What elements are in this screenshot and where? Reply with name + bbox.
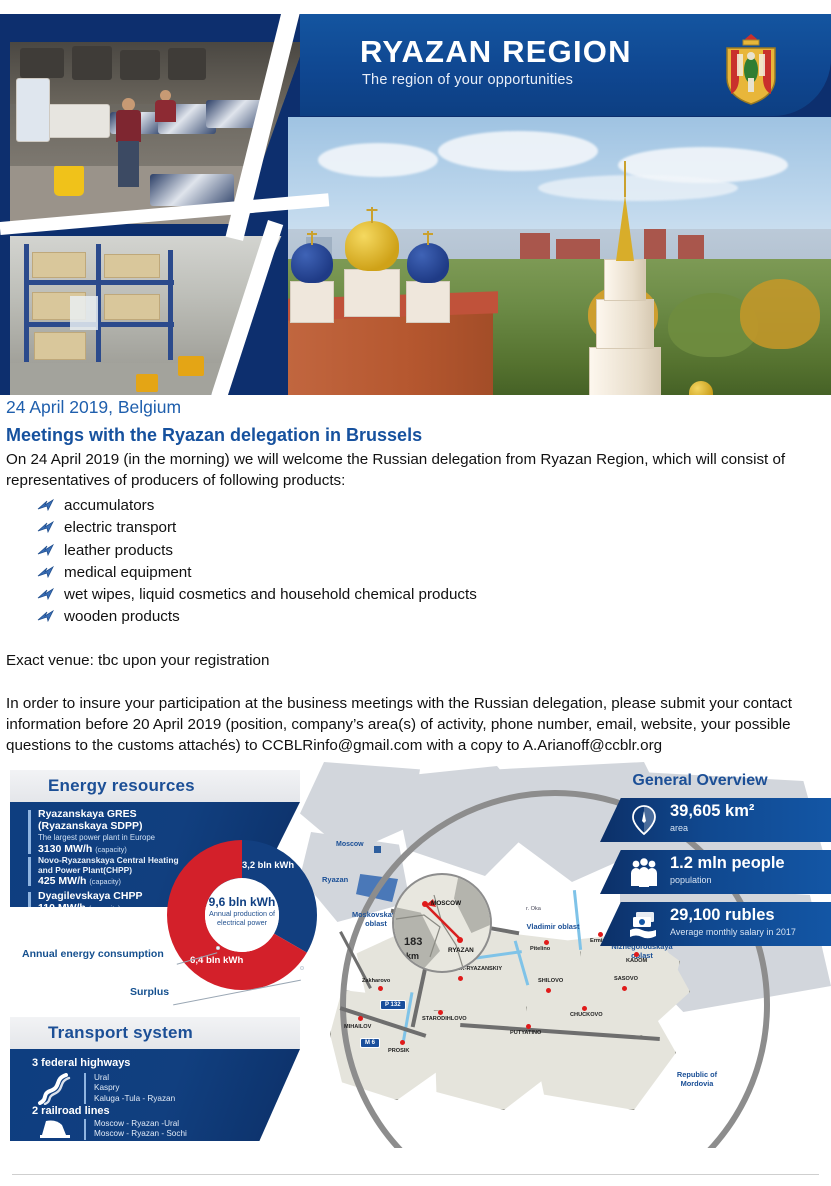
rail-title: 2 railroad lines <box>32 1105 110 1117</box>
duct <box>168 48 206 80</box>
donut-center-text: 9,6 bln kWh Annual production of electri… <box>190 895 294 927</box>
article-date-location: 24 April 2019, Belgium <box>6 396 828 418</box>
duct <box>20 48 64 78</box>
oblast-label: Vladimir oblast <box>508 922 598 931</box>
list-item: wet wipes, liquid cosmetics and househol… <box>36 584 828 606</box>
accent-bar <box>28 810 31 854</box>
stat-label: Average monthly salary in 2017 <box>670 927 796 937</box>
donut-center-value: 9,6 bln kWh <box>190 895 294 909</box>
spire-needle <box>624 161 626 197</box>
city-dot <box>378 986 383 991</box>
ryazan-kremlin-photo <box>288 117 831 395</box>
city-dot <box>358 1016 363 1021</box>
stat-value: 39,605 km² <box>670 802 754 821</box>
city-label: SHILOVO <box>538 978 563 984</box>
autumn-tree <box>740 279 820 349</box>
forklift <box>178 356 204 376</box>
product-label: medical equipment <box>64 564 191 581</box>
capacity-note: (capacity) <box>89 877 121 886</box>
cathedral-body <box>288 313 493 395</box>
cloud <box>318 143 438 177</box>
inset-distance-unit: km <box>406 951 419 962</box>
bell-tower <box>588 193 662 395</box>
dome-drum <box>290 281 334 323</box>
city-label: KADOM <box>626 958 647 964</box>
venue-note: Exact venue: tbc upon your registration <box>6 651 828 672</box>
cross-bar <box>307 233 317 235</box>
stat-label: area <box>670 823 688 833</box>
highways-list: Ural Kaspry Kaluga -Tula - Ryazan <box>84 1073 175 1104</box>
dome-drum <box>344 269 400 317</box>
banner-subtitle: The region of your opportunities <box>362 72 573 88</box>
capacity-note: (capacity) <box>95 845 127 854</box>
folded-fabric <box>150 174 234 206</box>
dome-drum <box>406 281 450 323</box>
map-pin-icon <box>628 804 660 836</box>
bottom-divider <box>12 1174 819 1175</box>
energy-donut-chart: 9,6 bln kWh Annual production of electri… <box>166 839 318 991</box>
list-item: medical equipment <box>36 562 828 584</box>
product-label: accumulators <box>64 497 154 514</box>
worker-torso <box>155 100 176 122</box>
onion-dome-gold <box>345 221 399 271</box>
ryazan-cathedral <box>288 279 503 395</box>
list-item: accumulators <box>36 495 828 517</box>
river-label: r. Oka <box>526 906 541 912</box>
blue-arrow-bullet-icon <box>36 520 56 535</box>
yellow-bucket <box>54 166 84 196</box>
blue-arrow-bullet-icon <box>36 565 56 580</box>
oblast-label: Republic of Mordovia <box>660 1070 734 1088</box>
city-dot <box>400 1040 405 1045</box>
highway-icon <box>36 1073 72 1105</box>
product-label: wooden products <box>64 608 180 625</box>
city-dot <box>622 986 627 991</box>
city-label: PROSIK <box>388 1048 409 1054</box>
blue-arrow-bullet-icon <box>36 498 56 513</box>
registration-instructions: In order to insure your participation at… <box>6 693 828 756</box>
highways-title: 3 federal highways <box>32 1057 130 1069</box>
list-item: leather products <box>36 540 828 562</box>
overview-panel-title: General Overview <box>575 768 825 794</box>
plant-name-2: (Ryazanskaya SDPP) <box>38 820 228 832</box>
banner-title: RYAZAN REGION <box>360 34 632 70</box>
city-label: STARODIHLOVO <box>422 1016 467 1022</box>
callout-surplus: Surplus <box>130 986 169 998</box>
forklift <box>136 374 158 392</box>
small-gold-dome <box>688 375 714 395</box>
list-item: electric transport <box>36 517 828 539</box>
pallet-box <box>32 252 86 278</box>
stat-salary: 29,100 rubles Average monthly salary in … <box>600 902 831 946</box>
oblast-line1: Vladimir oblast <box>508 922 598 931</box>
inset-ryazan-label: RYAZAN <box>448 947 474 954</box>
cross-bar <box>423 233 433 235</box>
list-item: wooden products <box>36 606 828 628</box>
duct <box>72 46 112 80</box>
stat-population: 1.2 mln people population <box>600 850 831 894</box>
plant-name: Ryazanskaya GRES <box>38 808 228 820</box>
city-dot <box>458 976 463 981</box>
product-label: leather products <box>64 542 173 559</box>
ryazan-coat-of-arms-icon <box>717 30 785 106</box>
accent-bar <box>28 857 31 886</box>
city-label: MIHAILOV <box>344 1024 371 1030</box>
rail-name: Moscow - Ryazan - Sochi <box>94 1129 187 1139</box>
people-icon <box>628 856 660 888</box>
city-dot <box>544 940 549 945</box>
city-dot <box>438 1010 443 1015</box>
blue-dome <box>290 237 334 323</box>
map-label-moscow: Moscow <box>336 841 364 848</box>
duct <box>120 50 160 80</box>
city-label: SASOVO <box>614 976 638 982</box>
road-badge: M 6 <box>360 1038 380 1048</box>
callout-dot <box>300 966 304 970</box>
city-dot <box>526 1024 531 1029</box>
stat-area: 39,605 km² area <box>600 798 831 842</box>
worker-torso <box>116 110 141 142</box>
product-label: electric transport <box>64 519 176 536</box>
gold-spire <box>616 195 634 261</box>
donut-surplus-value: 3,2 bln kWh <box>242 859 294 870</box>
stat-value: 1.2 mln people <box>670 854 785 873</box>
hero-image-collage: RYAZAN REGION The region of your opportu… <box>0 14 831 395</box>
pallet-box <box>34 332 86 360</box>
city-dot <box>598 932 603 937</box>
rack-upright <box>24 244 29 362</box>
stat-value: 29,100 rubles <box>670 906 775 925</box>
capacity-value: 3130 MW/h <box>38 843 92 855</box>
rack-beam <box>24 280 174 285</box>
inset-moscow-label: MOSCOW <box>431 900 461 907</box>
cloud <box>438 131 598 171</box>
donut-center-label-2: electrical power <box>190 918 294 927</box>
article-intro: On 24 April 2019 (in the morning) we wil… <box>6 450 828 491</box>
highway-name: Ural <box>94 1073 175 1083</box>
onion-dome <box>291 243 333 283</box>
train-icon <box>36 1119 74 1141</box>
city-dot <box>634 952 639 957</box>
inset-ryazan-dot <box>457 937 463 943</box>
pallet-box <box>104 294 160 320</box>
oblast-line1: Republic of <box>660 1070 734 1079</box>
inset-distance-value: 183 <box>404 937 422 948</box>
city-dot <box>546 988 551 993</box>
pallet-box <box>104 254 160 278</box>
blue-arrow-bullet-icon <box>36 543 56 558</box>
blue-arrow-bullet-icon <box>36 609 56 624</box>
rack-beam <box>24 322 174 327</box>
inset-moscow-dot <box>422 901 428 907</box>
donut-center-label: Annual production of <box>190 909 294 918</box>
oblast-line2: Mordovia <box>660 1079 734 1088</box>
city-label: PUTYATINO <box>510 1030 541 1036</box>
blue-arrow-bullet-icon <box>36 587 56 602</box>
gold-dome <box>344 209 400 317</box>
moscow-marker <box>374 846 381 853</box>
tower-tier <box>589 347 661 395</box>
city-label: Zakharovo <box>362 978 390 984</box>
control-panel <box>16 78 50 142</box>
road-badge: P 132 <box>380 1000 406 1010</box>
blue-dome <box>406 237 450 323</box>
onion-dome-gold <box>689 381 713 395</box>
rack-upright <box>168 250 173 360</box>
poster-page: RYAZAN REGION The region of your opportu… <box>0 0 831 1186</box>
tower-tier <box>596 299 654 349</box>
tower-tier <box>604 259 646 301</box>
money-hand-icon <box>628 908 660 940</box>
city-label: CHUCKOVO <box>570 1012 603 1018</box>
stretch-wrap <box>70 296 98 330</box>
article-headline: Meetings with the Ryazan delegation in B… <box>6 422 828 448</box>
callout-consumption: Annual energy consumption <box>22 948 164 960</box>
article-text: 24 April 2019, Belgium Meetings with the… <box>6 396 828 756</box>
cross-bar <box>367 209 378 211</box>
rail-list: Moscow - Ryazan -Ural Moscow - Ryazan - … <box>84 1119 187 1140</box>
rail-name: Moscow - Ryazan -Ural <box>94 1119 187 1129</box>
moscow-ryazan-distance-inset: MOSCOW RYAZAN 183 km <box>392 873 492 973</box>
energy-panel-title: Energy resources <box>10 770 300 802</box>
capacity-value: 425 MW/h <box>38 875 86 887</box>
city-label: Pitelino <box>530 946 550 952</box>
transport-panel-title: Transport system <box>10 1017 300 1049</box>
onion-dome <box>407 243 449 283</box>
worker-legs <box>118 141 139 187</box>
stat-label: population <box>670 875 712 885</box>
highway-name: Kaspry <box>94 1083 175 1093</box>
transport-panel-body: 3 federal highways Ural Kaspry Kaluga -T… <box>10 1049 300 1141</box>
city-dot <box>582 1006 587 1011</box>
product-list: accumulators electric transport leather … <box>36 495 828 629</box>
callout-dot <box>216 946 220 950</box>
highway-name: Kaluga -Tula - Ryazan <box>94 1094 175 1104</box>
product-label: wet wipes, liquid cosmetics and househol… <box>64 586 477 603</box>
